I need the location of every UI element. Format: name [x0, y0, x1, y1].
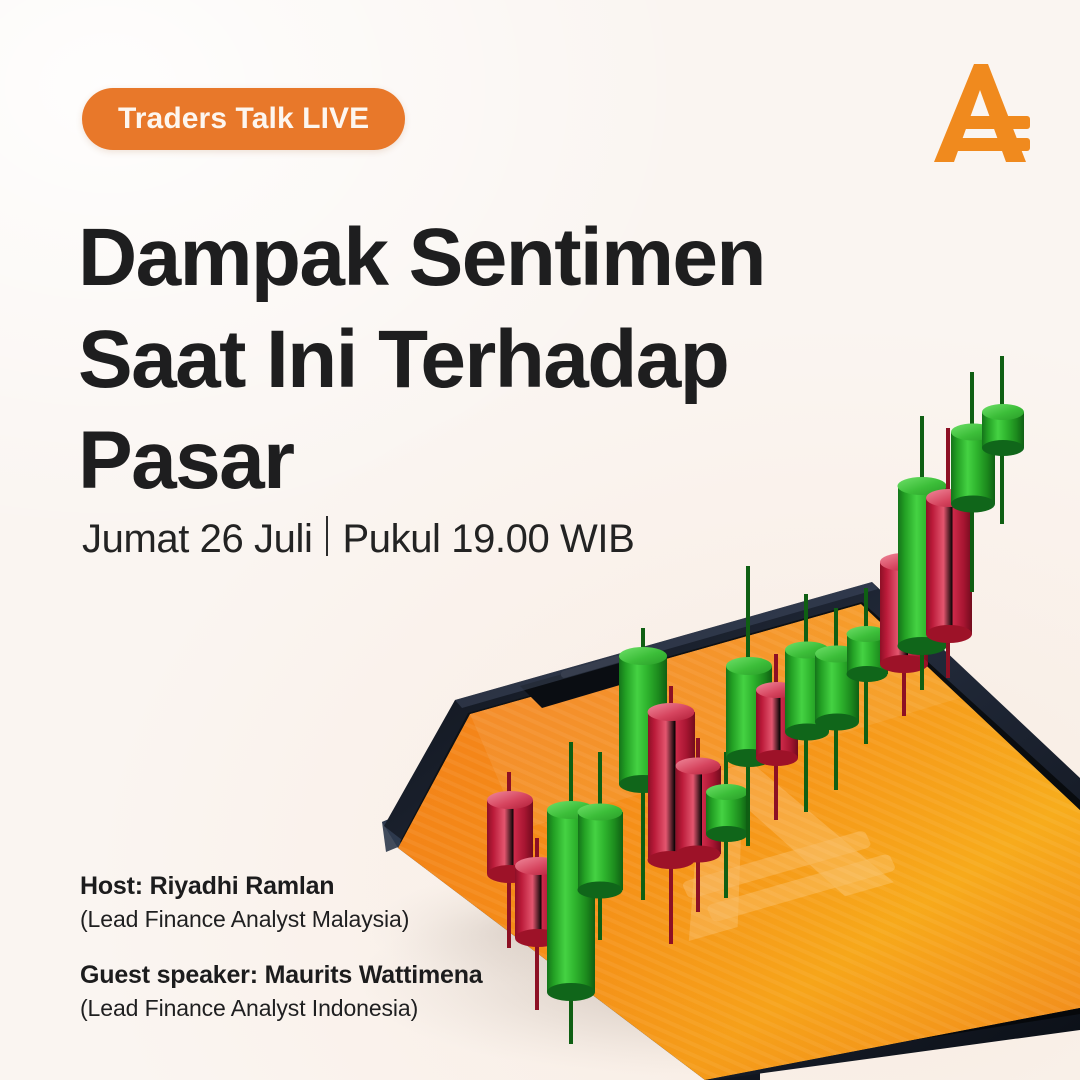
headline-line-1: Dampak Sentimen — [78, 207, 798, 308]
speaker-credits: Host: Riyadhi Ramlan (Lead Finance Analy… — [80, 872, 483, 1022]
headline-line-2: Saat Ini Terhadap — [78, 309, 798, 410]
guest-role: (Lead Finance Analyst Indonesia) — [80, 995, 483, 1022]
live-badge[interactable]: Traders Talk LIVE — [82, 88, 405, 150]
guest-name: Guest speaker: Maurits Wattimena — [80, 961, 483, 990]
host-role: (Lead Finance Analyst Malaysia) — [80, 906, 483, 933]
headline-line-3: Pasar — [78, 410, 798, 511]
live-badge-label: Traders Talk LIVE — [118, 102, 369, 136]
promo-poster: Traders Talk LIVE Dampak Sentimen Saat I… — [0, 0, 1080, 1080]
brand-logo-icon — [930, 58, 1034, 170]
event-time: Pukul 19.00 WIB — [342, 517, 634, 562]
credit-host: Host: Riyadhi Ramlan (Lead Finance Analy… — [80, 872, 483, 933]
page-title: Dampak Sentimen Saat Ini Terhadap Pasar — [78, 207, 798, 511]
event-schedule: Jumat 26 Juli Pukul 19.00 WIB — [82, 512, 634, 562]
schedule-separator — [326, 516, 328, 556]
credit-guest: Guest speaker: Maurits Wattimena (Lead F… — [80, 961, 483, 1022]
event-date: Jumat 26 Juli — [82, 517, 312, 562]
host-name: Host: Riyadhi Ramlan — [80, 872, 483, 901]
